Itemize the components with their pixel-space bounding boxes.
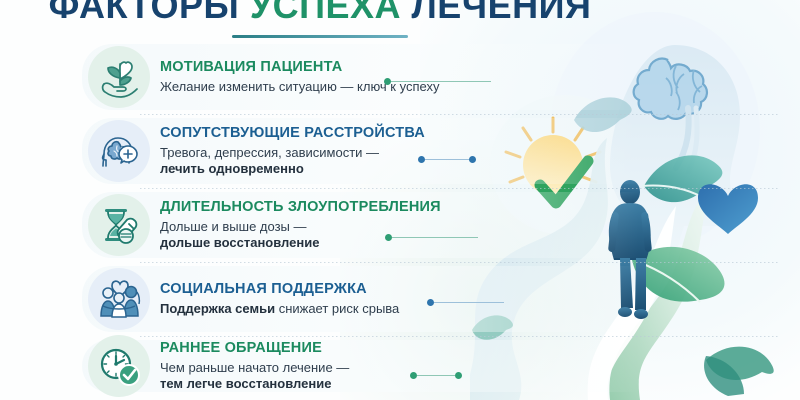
family-heart-icon — [88, 268, 150, 330]
title-part-2: УСПЕХА — [250, 0, 412, 26]
factor-subtext-bold: лечить одновременно — [160, 161, 304, 176]
row-divider — [140, 336, 778, 337]
factor-text: ДЛИТЕЛЬНОСТЬ ЗЛОУПОТРЕБЛЕНИЯ Дольше и вы… — [160, 199, 441, 252]
factor-row-motivation[interactable]: МОТИВАЦИЯ ПАЦИЕНТА Желание изменить ситу… — [88, 40, 488, 114]
factor-row-duration[interactable]: ДЛИТЕЛЬНОСТЬ ЗЛОУПОТРЕБЛЕНИЯ Дольше и вы… — [88, 188, 488, 262]
factor-subtext-bold: дольше восстановление — [160, 235, 319, 250]
connector-dot — [385, 234, 392, 241]
connector-line — [417, 375, 455, 377]
factor-text: СОПУТСТВУЮЩИЕ РАССТРОЙСТВА Тревога, депр… — [160, 125, 425, 178]
connector-4 — [427, 299, 504, 306]
connector-dot — [427, 299, 434, 306]
factor-row-support[interactable]: СОЦИАЛЬНАЯ ПОДДЕРЖКА Поддержка семьи сни… — [88, 262, 488, 336]
factor-row-comorbid[interactable]: СОПУТСТВУЮЩИЕ РАССТРОЙСТВА Тревога, депр… — [88, 114, 488, 188]
connector-dot — [410, 372, 417, 379]
hourglass-pills-icon — [88, 194, 150, 256]
connector-2 — [418, 156, 476, 163]
factor-subtext-bold: тем легче восстановление — [160, 376, 331, 391]
infographic-page: ФАКТОРЫ УСПЕХА ЛЕЧЕНИЯ МОТИВАЦИЯ ПАЦИЕНТ… — [0, 0, 800, 400]
factor-heading: СОПУТСТВУЮЩИЕ РАССТРОЙСТВА — [160, 125, 425, 142]
row-divider — [140, 262, 778, 263]
factor-subtext-plain: Тревога, депрессия, зависимости — — [160, 145, 379, 160]
factor-subtext-plain: снижает риск срыва — [275, 301, 399, 316]
title-part-1: ФАКТОРЫ — [49, 0, 250, 26]
factor-heading: РАННЕЕ ОБРАЩЕНИЕ — [160, 340, 349, 357]
row-divider — [140, 114, 778, 115]
row-divider — [140, 188, 778, 189]
connector-1 — [384, 78, 491, 85]
factors-list: МОТИВАЦИЯ ПАЦИЕНТА Желание изменить ситу… — [88, 40, 488, 396]
factor-subtext-2: тем легче восстановление — [160, 376, 349, 393]
factor-heading: СОЦИАЛЬНАЯ ПОДДЕРЖКА — [160, 281, 399, 298]
factor-subtext: Тревога, депрессия, зависимости — — [160, 145, 425, 162]
factor-subtext-bold: Поддержка семьи — [160, 301, 275, 316]
factor-heading: МОТИВАЦИЯ ПАЦИЕНТА — [160, 59, 439, 76]
connector-line — [391, 81, 491, 83]
factor-text: РАННЕЕ ОБРАЩЕНИЕ Чем раньше начато лечен… — [160, 340, 349, 393]
connector-line — [392, 237, 478, 239]
factor-text: МОТИВАЦИЯ ПАЦИЕНТА Желание изменить ситу… — [160, 59, 439, 96]
factor-subtext: Чем раньше начато лечение — — [160, 360, 349, 377]
page-title: ФАКТОРЫ УСПЕХА ЛЕЧЕНИЯ — [0, 0, 640, 38]
connector-line — [425, 159, 469, 161]
title-underline — [232, 35, 408, 38]
connector-dot-end — [469, 156, 476, 163]
connector-line — [434, 302, 504, 304]
title-part-3: ЛЕЧЕНИЯ — [412, 0, 592, 26]
clock-check-icon — [88, 335, 150, 397]
factor-heading: ДЛИТЕЛЬНОСТЬ ЗЛОУПОТРЕБЛЕНИЯ — [160, 199, 441, 216]
connector-3 — [385, 234, 478, 241]
hand-plant-heart-icon — [88, 46, 150, 108]
connector-dot-end — [455, 372, 462, 379]
factor-subtext-plain: Дольше и выше дозы — — [160, 219, 307, 234]
factor-subtext: Поддержка семьи снижает риск срыва — [160, 301, 399, 318]
connector-5 — [410, 372, 462, 379]
factor-subtext-2: лечить одновременно — [160, 161, 425, 178]
factor-subtext-plain: Чем раньше начато лечение — — [160, 360, 349, 375]
connector-dot — [418, 156, 425, 163]
factor-subtext: Дольше и выше дозы — — [160, 219, 441, 236]
connector-dot — [384, 78, 391, 85]
factor-text: СОЦИАЛЬНАЯ ПОДДЕРЖКА Поддержка семьи сни… — [160, 281, 399, 318]
head-brain-plus-icon — [88, 120, 150, 182]
factor-row-early[interactable]: РАННЕЕ ОБРАЩЕНИЕ Чем раньше начато лечен… — [88, 336, 488, 396]
